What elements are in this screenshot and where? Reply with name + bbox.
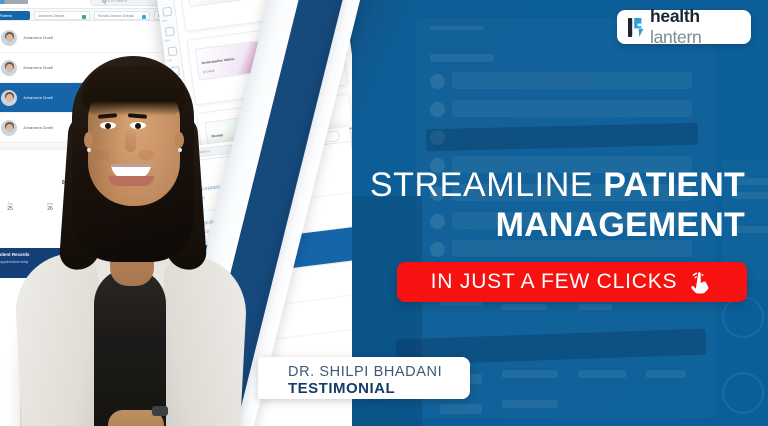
brand-logo[interactable]: health lantern (617, 10, 751, 44)
logo-text-light: lantern (650, 27, 701, 47)
lantern-mark-icon (628, 18, 645, 37)
sidebar-item-dashboard[interactable] (162, 7, 172, 17)
medicine-image: Desloratadine Tablets 10 mg D-Lerinol (185, 0, 270, 7)
speaker-nameplate: DR. SHILPI BHADANI TESTIMONIAL (258, 357, 470, 399)
page-title: STREAMLINE PATIENT MANAGEMENT (345, 168, 745, 242)
speaker-name: DR. SHILPI BHADANI (288, 364, 442, 380)
cta-button[interactable]: IN JUST A FEW CLICKS (397, 262, 747, 302)
logo-text-bold: health (650, 6, 700, 26)
click-hand-icon (687, 269, 713, 297)
headline-line2: MANAGEMENT (345, 208, 745, 243)
speaker-photo (12, 18, 252, 426)
headline-line1-bold: PATIENT (603, 166, 745, 204)
healthlantern-mini-logo-icon (0, 0, 28, 4)
promo-banner: Find a Patient Patients Johannes Deepak … (0, 0, 768, 426)
speaker-role: TESTIMONIAL (288, 380, 395, 397)
cta-label: IN JUST A FEW CLICKS (431, 270, 678, 294)
search-placeholder: Find a Patient (102, 0, 127, 3)
headline-line1-thin: STREAMLINE (370, 166, 593, 204)
